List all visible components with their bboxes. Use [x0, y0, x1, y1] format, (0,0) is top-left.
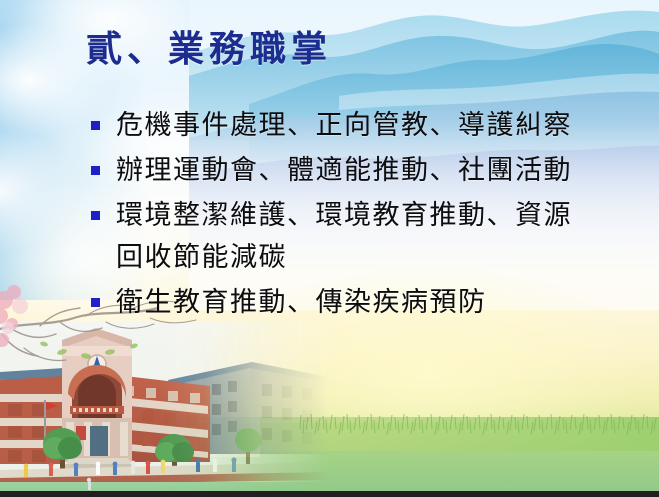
bottom-edge-bar — [0, 491, 659, 497]
list-item: 危機事件處理、正向管教、導護糾察 — [88, 104, 644, 146]
list-item: 辦理運動會、體適能推動、社團活動 — [88, 149, 644, 191]
list-item: 環境整潔維護、環境教育推動、資源 回收節能減碳 — [88, 194, 644, 278]
slide-canvas: 貳、業務職掌 危機事件處理、正向管教、導護糾察 辦理運動會、體適能推動、社團活動… — [0, 0, 659, 497]
list-item-label: 衛生教育推動、傳染疾病預防 — [116, 281, 644, 323]
bullet-square-icon — [91, 298, 100, 307]
bullet-list: 危機事件處理、正向管教、導護糾察 辦理運動會、體適能推動、社團活動 環境整潔維護… — [88, 104, 644, 326]
list-item-label: 環境整潔維護、環境教育推動、資源 — [116, 194, 644, 236]
bullet-square-icon — [91, 166, 100, 175]
list-item: 衛生教育推動、傳染疾病預防 — [88, 281, 644, 323]
list-item-label-line2: 回收節能減碳 — [116, 236, 644, 278]
list-item-label: 危機事件處理、正向管教、導護糾察 — [116, 104, 644, 146]
bullet-square-icon — [91, 211, 100, 220]
slide-content: 貳、業務職掌 危機事件處理、正向管教、導護糾察 辦理運動會、體適能推動、社團活動… — [0, 0, 659, 497]
bullet-square-icon — [91, 121, 100, 130]
page-title: 貳、業務職掌 — [86, 28, 332, 71]
list-item-label: 辦理運動會、體適能推動、社團活動 — [116, 149, 644, 191]
